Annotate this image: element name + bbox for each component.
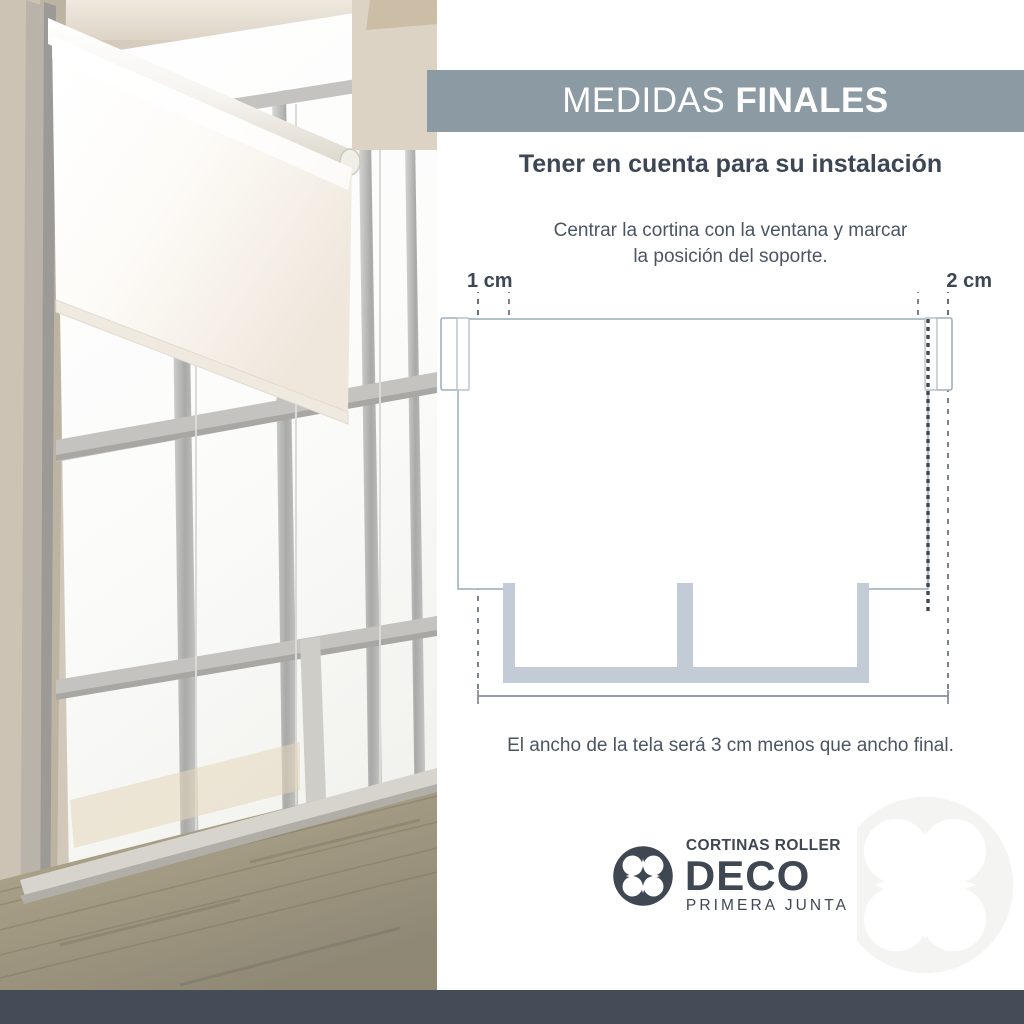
info-panel: MEDIDAS FINALES Tener en cuenta para su … [437,0,1024,990]
logo-main-line: DECO [685,855,810,897]
gap-bracket-right [918,292,948,316]
page-title: MEDIDAS FINALES [562,81,888,121]
installation-photo [0,0,437,990]
page-title-thin: MEDIDAS [562,81,725,120]
bracket-left [441,318,469,390]
brand-logo: CORTINAS ROLLER DECO PRIMERA JUNTA [437,838,1024,913]
diagram-svg [437,292,1024,732]
header-banner: MEDIDAS FINALES [427,70,1024,132]
window-frame [503,583,869,683]
instruction-line-2: la posición del soporte. [437,244,1024,270]
blind-fabric-panel [458,319,928,589]
gap-bracket-left [478,292,509,316]
poster-root: MEDIDAS FINALES Tener en cuenta para su … [0,0,1024,1024]
instruction-text: Centrar la cortina con la ventana y marc… [437,218,1024,269]
deco-flower-icon [612,845,674,907]
instruction-line-1: Centrar la cortina con la ventana y marc… [437,218,1024,244]
logo-wordmark: CORTINAS ROLLER DECO PRIMERA JUNTA [686,838,849,913]
photo-illustration [0,0,437,990]
page-subtitle: Tener en cuenta para su instalación [437,150,1024,179]
overall-width-dimension [478,690,948,704]
measurement-label-left: 1 cm [467,270,513,293]
footnote-text: El ancho de la tela será 3 cm menos que … [437,735,1024,757]
installation-diagram [437,292,1024,732]
logo-bottom-line: PRIMERA JUNTA [686,898,849,914]
footer-bar [0,990,1024,1024]
page-title-bold: FINALES [735,81,888,120]
measurement-label-right: 2 cm [946,270,992,293]
